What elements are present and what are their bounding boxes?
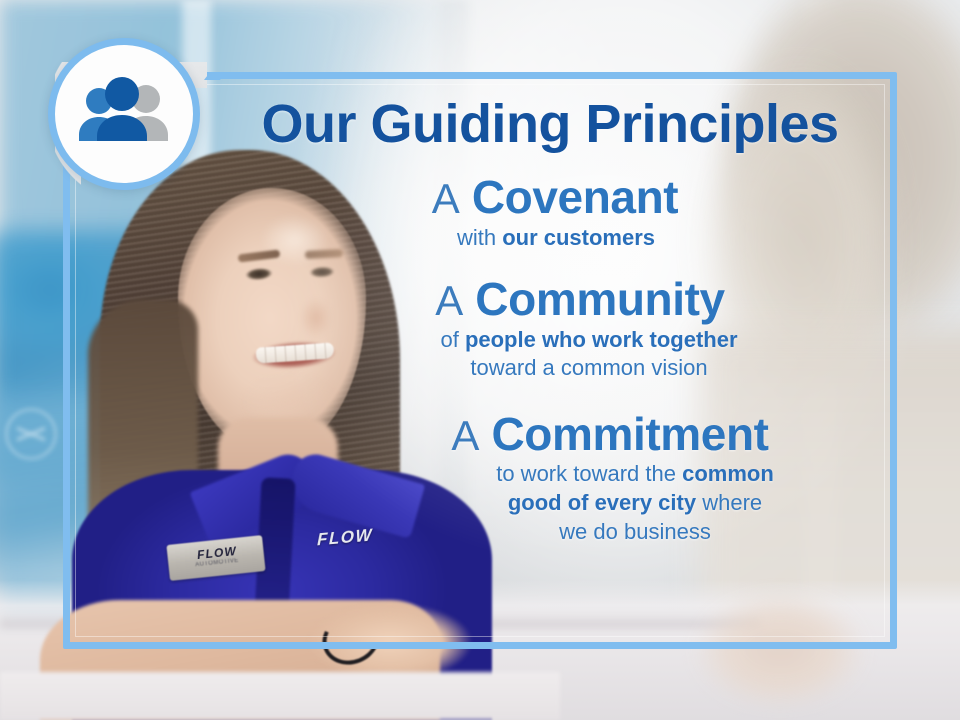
principle-title: A Covenant — [205, 172, 895, 224]
guiding-principles-poster: FLOW AUTOMOTIVE FLOW Our Guiding Princip… — [0, 0, 960, 720]
principle-word: Covenant — [472, 171, 678, 223]
principle-subtext-line: good of every city where — [375, 489, 895, 518]
principle-subtext-line: we do business — [375, 518, 895, 547]
principle-subtext-line: of people who work together — [283, 326, 895, 355]
principle-covenant: A Covenant with our customers — [205, 172, 895, 252]
principle-word: Commitment — [491, 408, 768, 460]
principle-subtext: to work toward the commongood of every c… — [205, 460, 895, 546]
principle-subtext-line: to work toward the common — [375, 460, 895, 489]
page-title: Our Guiding Principles — [205, 96, 895, 153]
principle-title: A Community — [205, 274, 895, 326]
principle-subtext-line: with our customers — [217, 224, 895, 253]
principle-article: A — [435, 277, 463, 324]
principle-subtext-line: toward a common vision — [283, 354, 895, 383]
principles-list: A Covenant with our customers A Communit… — [205, 172, 895, 552]
people-group-icon — [48, 38, 200, 190]
principle-community: A Community of people who work togethert… — [205, 274, 895, 383]
principle-article: A — [432, 175, 460, 222]
principle-commitment: A Commitment to work toward the commongo… — [205, 409, 895, 546]
principle-subtext: of people who work togethertoward a comm… — [205, 326, 895, 383]
principle-article: A — [451, 412, 479, 459]
principle-title: A Commitment — [205, 409, 895, 461]
principle-subtext: with our customers — [205, 224, 895, 253]
principle-word: Community — [475, 273, 724, 325]
